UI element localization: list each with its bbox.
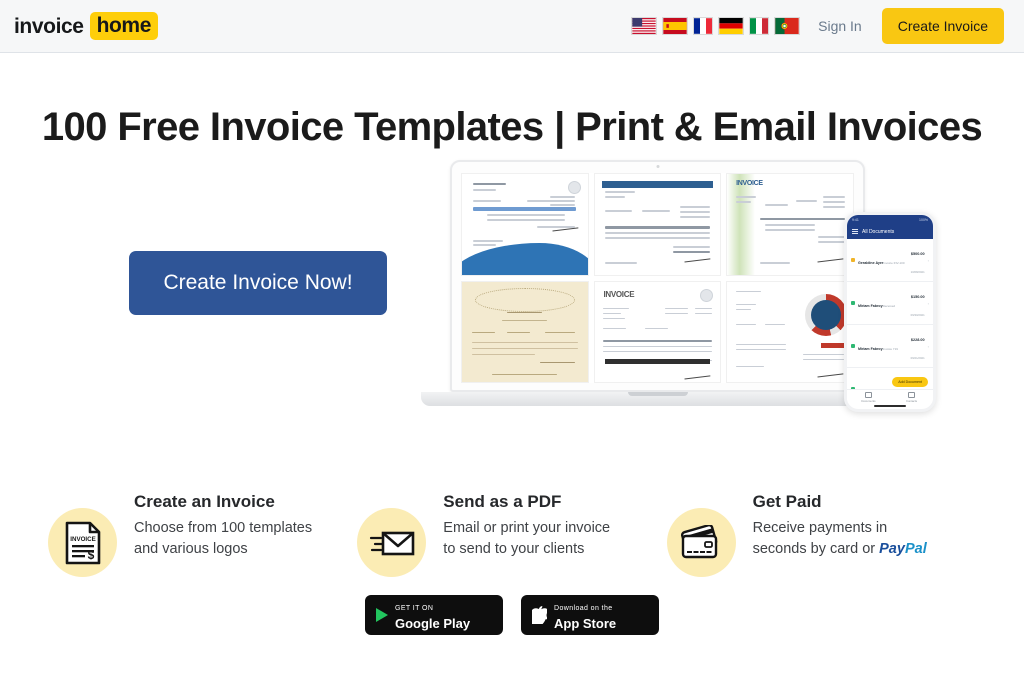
- feature-create-invoice: INVOICE $ Create an Invoice Choose from …: [48, 492, 357, 577]
- feature-text: Send as a PDF Email or print your invoic…: [443, 492, 610, 560]
- template-thumbnail: INVOICE: [726, 173, 854, 276]
- badge-top-label: GET IT ON: [395, 605, 433, 612]
- logo-highlight: home: [90, 12, 158, 40]
- document-subtitle: Received: [883, 304, 896, 308]
- phone-tab-contacts-label: Contacts: [906, 399, 917, 403]
- flag-fr-icon[interactable]: [693, 17, 713, 35]
- document-info: Miriam FabroyInvoice 719: [858, 337, 908, 355]
- phone-app-header: All Documents: [847, 224, 933, 239]
- phone-tab-documents[interactable]: Documents: [847, 392, 890, 403]
- language-flags: [631, 17, 800, 35]
- document-amount: $500.00: [911, 252, 925, 256]
- document-amount: $150.00: [911, 295, 925, 299]
- template-thumbnail: [461, 173, 589, 276]
- feature-title: Send as a PDF: [443, 492, 610, 512]
- contacts-icon: [908, 392, 915, 398]
- document-name: Miriam Fabroy: [858, 347, 883, 351]
- documents-icon: [865, 392, 872, 398]
- apple-icon: [532, 606, 547, 624]
- app-store-badges: GET IT ON Google Play Download on the Ap…: [0, 595, 1024, 635]
- status-badge: [851, 301, 855, 305]
- laptop-base: [421, 392, 894, 406]
- flag-pt-icon[interactable]: [774, 17, 800, 35]
- hero-section: Create Invoice Now!: [0, 150, 1024, 480]
- status-badge: [851, 258, 855, 262]
- paypal-pal: Pal: [905, 541, 927, 557]
- badge-text: GET IT ON Google Play: [395, 597, 470, 634]
- template-thumbnail: [726, 281, 854, 384]
- google-play-badge[interactable]: GET IT ON Google Play: [365, 595, 503, 635]
- page-title: 100 Free Invoice Templates | Print & Ema…: [0, 105, 1024, 150]
- flag-es-icon[interactable]: [662, 17, 688, 35]
- list-item[interactable]: Miriam FabroyReceived$150.0009/30/2021›: [847, 282, 933, 325]
- feature-desc-line2: to send to your clients: [443, 541, 584, 557]
- feature-description: Receive payments in seconds by card or P…: [753, 518, 927, 560]
- chevron-right-icon: ›: [928, 344, 929, 349]
- phone-status-bar: 9:41 100%: [847, 215, 933, 224]
- device-mockup-image: INVOICE: [440, 150, 960, 440]
- document-date: 10/08/2021: [911, 270, 925, 274]
- phone-mockup: 9:41 100% All Documents Geraldine AyerIn…: [844, 212, 936, 412]
- phone-app-title: All Documents: [862, 229, 894, 235]
- svg-text:INVOICE: INVOICE: [70, 536, 95, 543]
- play-triangle-icon: [376, 608, 388, 622]
- laptop-notch: [628, 392, 688, 396]
- feature-text: Get Paid Receive payments in seconds by …: [753, 492, 927, 560]
- logo[interactable]: invoice home: [14, 12, 158, 40]
- features-section: INVOICE $ Create an Invoice Choose from …: [0, 492, 1024, 577]
- list-item[interactable]: Miriam FabroyInvoice 719$228.0009/21/202…: [847, 325, 933, 368]
- badge-bottom-label: App Store: [554, 616, 616, 631]
- feature-desc-line2: seconds by card or: [753, 541, 880, 557]
- paypal-logo: PayPal: [879, 541, 927, 557]
- template-thumbnail: [461, 281, 589, 384]
- phone-bottom-tabs: Documents Contacts: [847, 389, 933, 403]
- phone-tab-contacts[interactable]: Contacts: [890, 392, 933, 403]
- feature-description: Choose from 100 templates and various lo…: [134, 518, 312, 560]
- hamburger-menu-icon[interactable]: [852, 228, 858, 236]
- document-amount-block: $150.0009/30/2021: [911, 285, 925, 321]
- laptop-lid: INVOICE: [450, 160, 865, 392]
- feature-title: Get Paid: [753, 492, 927, 512]
- document-subtitle: Invoice INV-100: [883, 261, 904, 265]
- feature-title: Create an Invoice: [134, 492, 312, 512]
- create-invoice-now-button[interactable]: Create Invoice Now!: [129, 251, 387, 315]
- document-subtitle: Invoice 719: [883, 347, 898, 351]
- list-item[interactable]: Hannah MilanInvoice 141$815.0009/02/2021…: [847, 411, 933, 412]
- laptop-screen: INVOICE: [461, 173, 854, 383]
- badge-bottom-label: Google Play: [395, 616, 470, 631]
- feature-desc-line1: Email or print your invoice: [443, 520, 610, 536]
- navbar: invoice home: [0, 0, 1024, 53]
- app-store-badge[interactable]: Download on the App Store: [521, 595, 659, 635]
- logo-text: invoice: [14, 16, 84, 37]
- phone-status-time: 9:41: [852, 218, 859, 222]
- create-invoice-button[interactable]: Create Invoice: [882, 8, 1004, 44]
- flying-envelope-icon: [357, 508, 426, 577]
- badge-top-label: Download on the: [554, 605, 613, 612]
- template-thumbnail: [594, 173, 722, 276]
- add-document-button[interactable]: Add Document: [892, 377, 928, 387]
- feature-description: Email or print your invoice to send to y…: [443, 518, 610, 560]
- document-name: Geraldine Ayer: [858, 261, 883, 265]
- status-badge: [851, 344, 855, 348]
- sign-in-link[interactable]: Sign In: [818, 18, 862, 34]
- svg-text:$: $: [87, 548, 94, 562]
- document-info: Miriam FabroyReceived: [858, 294, 908, 312]
- flag-de-icon[interactable]: [718, 17, 744, 35]
- credit-cards-icon: [667, 508, 736, 577]
- feature-desc-line1: Receive payments in: [753, 520, 888, 536]
- paypal-pay: Pay: [879, 541, 905, 557]
- document-amount-block: $500.0010/08/2021: [911, 242, 925, 278]
- laptop-camera-icon: [656, 165, 659, 168]
- document-amount: $228.00: [911, 338, 925, 342]
- document-date: 09/30/2021: [911, 313, 925, 317]
- template-thumbnail: INVOICE: [594, 281, 722, 384]
- chevron-right-icon: ›: [928, 301, 929, 306]
- document-name: Miriam Fabroy: [858, 304, 883, 308]
- list-item[interactable]: Geraldine AyerInvoice INV-100$500.0010/0…: [847, 239, 933, 282]
- flag-us-icon[interactable]: [631, 17, 657, 35]
- feature-text: Create an Invoice Choose from 100 templa…: [134, 492, 312, 560]
- phone-tab-documents-label: Documents: [861, 399, 875, 403]
- document-amount-block: $228.0009/21/2021: [911, 328, 925, 364]
- chevron-right-icon: ›: [928, 258, 929, 263]
- navbar-right: Sign In Create Invoice: [631, 8, 1004, 44]
- phone-status-battery: 100%: [919, 218, 928, 222]
- laptop-mockup: INVOICE: [450, 160, 865, 392]
- document-info: Geraldine AyerInvoice INV-100: [858, 251, 908, 269]
- feature-desc-line2: and various logos: [134, 541, 248, 557]
- phone-home-indicator: [874, 405, 906, 407]
- flag-it-icon[interactable]: [749, 17, 769, 35]
- badge-text: Download on the App Store: [554, 597, 616, 634]
- feature-desc-line1: Choose from 100 templates: [134, 520, 312, 536]
- invoice-document-icon: INVOICE $: [48, 508, 117, 577]
- document-date: 09/21/2021: [911, 356, 925, 360]
- feature-send-pdf: Send as a PDF Email or print your invoic…: [357, 492, 666, 577]
- feature-get-paid: Get Paid Receive payments in seconds by …: [667, 492, 976, 577]
